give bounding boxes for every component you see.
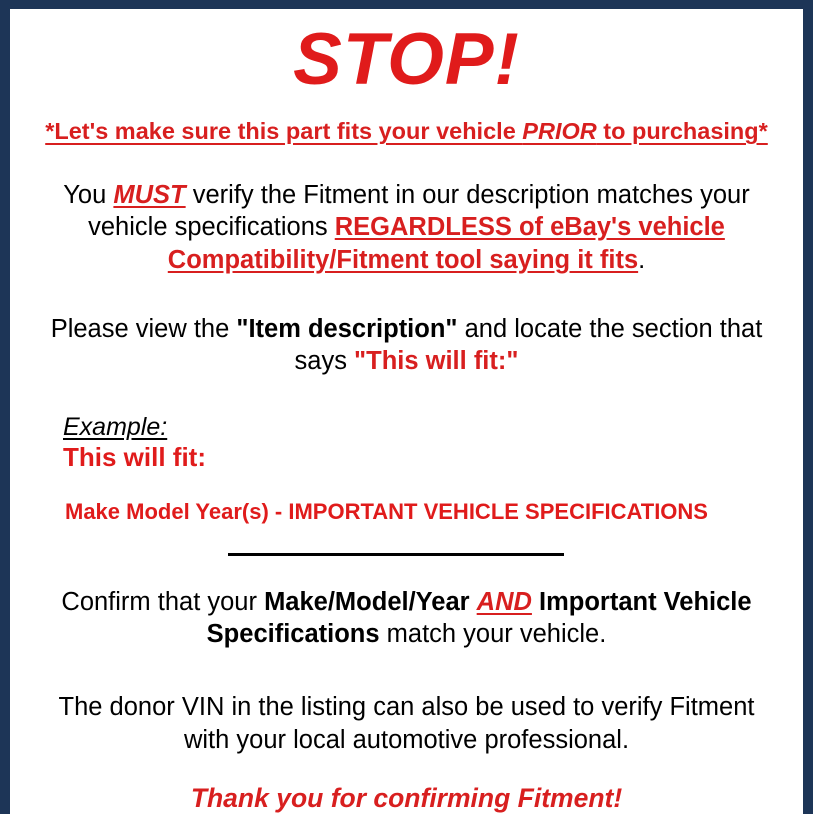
page-title: STOP!	[16, 23, 797, 96]
confirm-space-2	[532, 588, 539, 616]
item-description-label: "Item description"	[236, 315, 457, 343]
must-text-part3: .	[638, 246, 645, 274]
confirm-paragraph: Confirm that your Make/Model/Year AND Im…	[16, 586, 797, 651]
subtitle-lead-text: *Let's make sure this part fits your veh…	[45, 118, 522, 144]
subtitle-tail-text: to purchasing*	[597, 118, 768, 144]
example-spec-line: Make Model Year(s) - IMPORTANT VEHICLE S…	[65, 499, 797, 524]
notice-inner-panel: STOP! *Let's make sure this part fits yo…	[10, 23, 803, 815]
example-label-row: Example:	[63, 414, 797, 442]
make-model-year-label: Make/Model/Year	[264, 588, 470, 616]
section-divider	[228, 553, 564, 556]
item-description-paragraph: Please view the "Item description" and l…	[16, 313, 797, 378]
example-block: Example: This will fit: Make Model Year(…	[16, 414, 797, 525]
fitment-notice-card: STOP! *Let's make sure this part fits yo…	[0, 0, 813, 814]
donor-vin-paragraph: The donor VIN in the listing can also be…	[16, 691, 797, 756]
section-divider-wrap	[16, 553, 797, 559]
subtitle-emphasis-prior: PRIOR	[522, 118, 596, 144]
must-text-part1: You	[63, 181, 113, 209]
confirm-space-1	[470, 588, 477, 616]
confirm-text-part2: match your vehicle.	[380, 620, 607, 648]
this-will-fit-quote: "This will fit:"	[354, 347, 518, 375]
confirm-text-part1: Confirm that your	[61, 588, 264, 616]
must-verify-paragraph: You MUST verify the Fitment in our descr…	[16, 179, 797, 277]
example-fit-heading: This will fit:	[63, 443, 797, 473]
view-text-part1: Please view the	[51, 315, 237, 343]
and-emphasis: AND	[477, 588, 532, 616]
subtitle-banner: *Let's make sure this part fits your veh…	[16, 119, 797, 145]
example-label: Example:	[63, 414, 167, 442]
thank-you-message: Thank you for confirming Fitment!	[16, 783, 797, 815]
must-emphasis: MUST	[113, 181, 185, 209]
